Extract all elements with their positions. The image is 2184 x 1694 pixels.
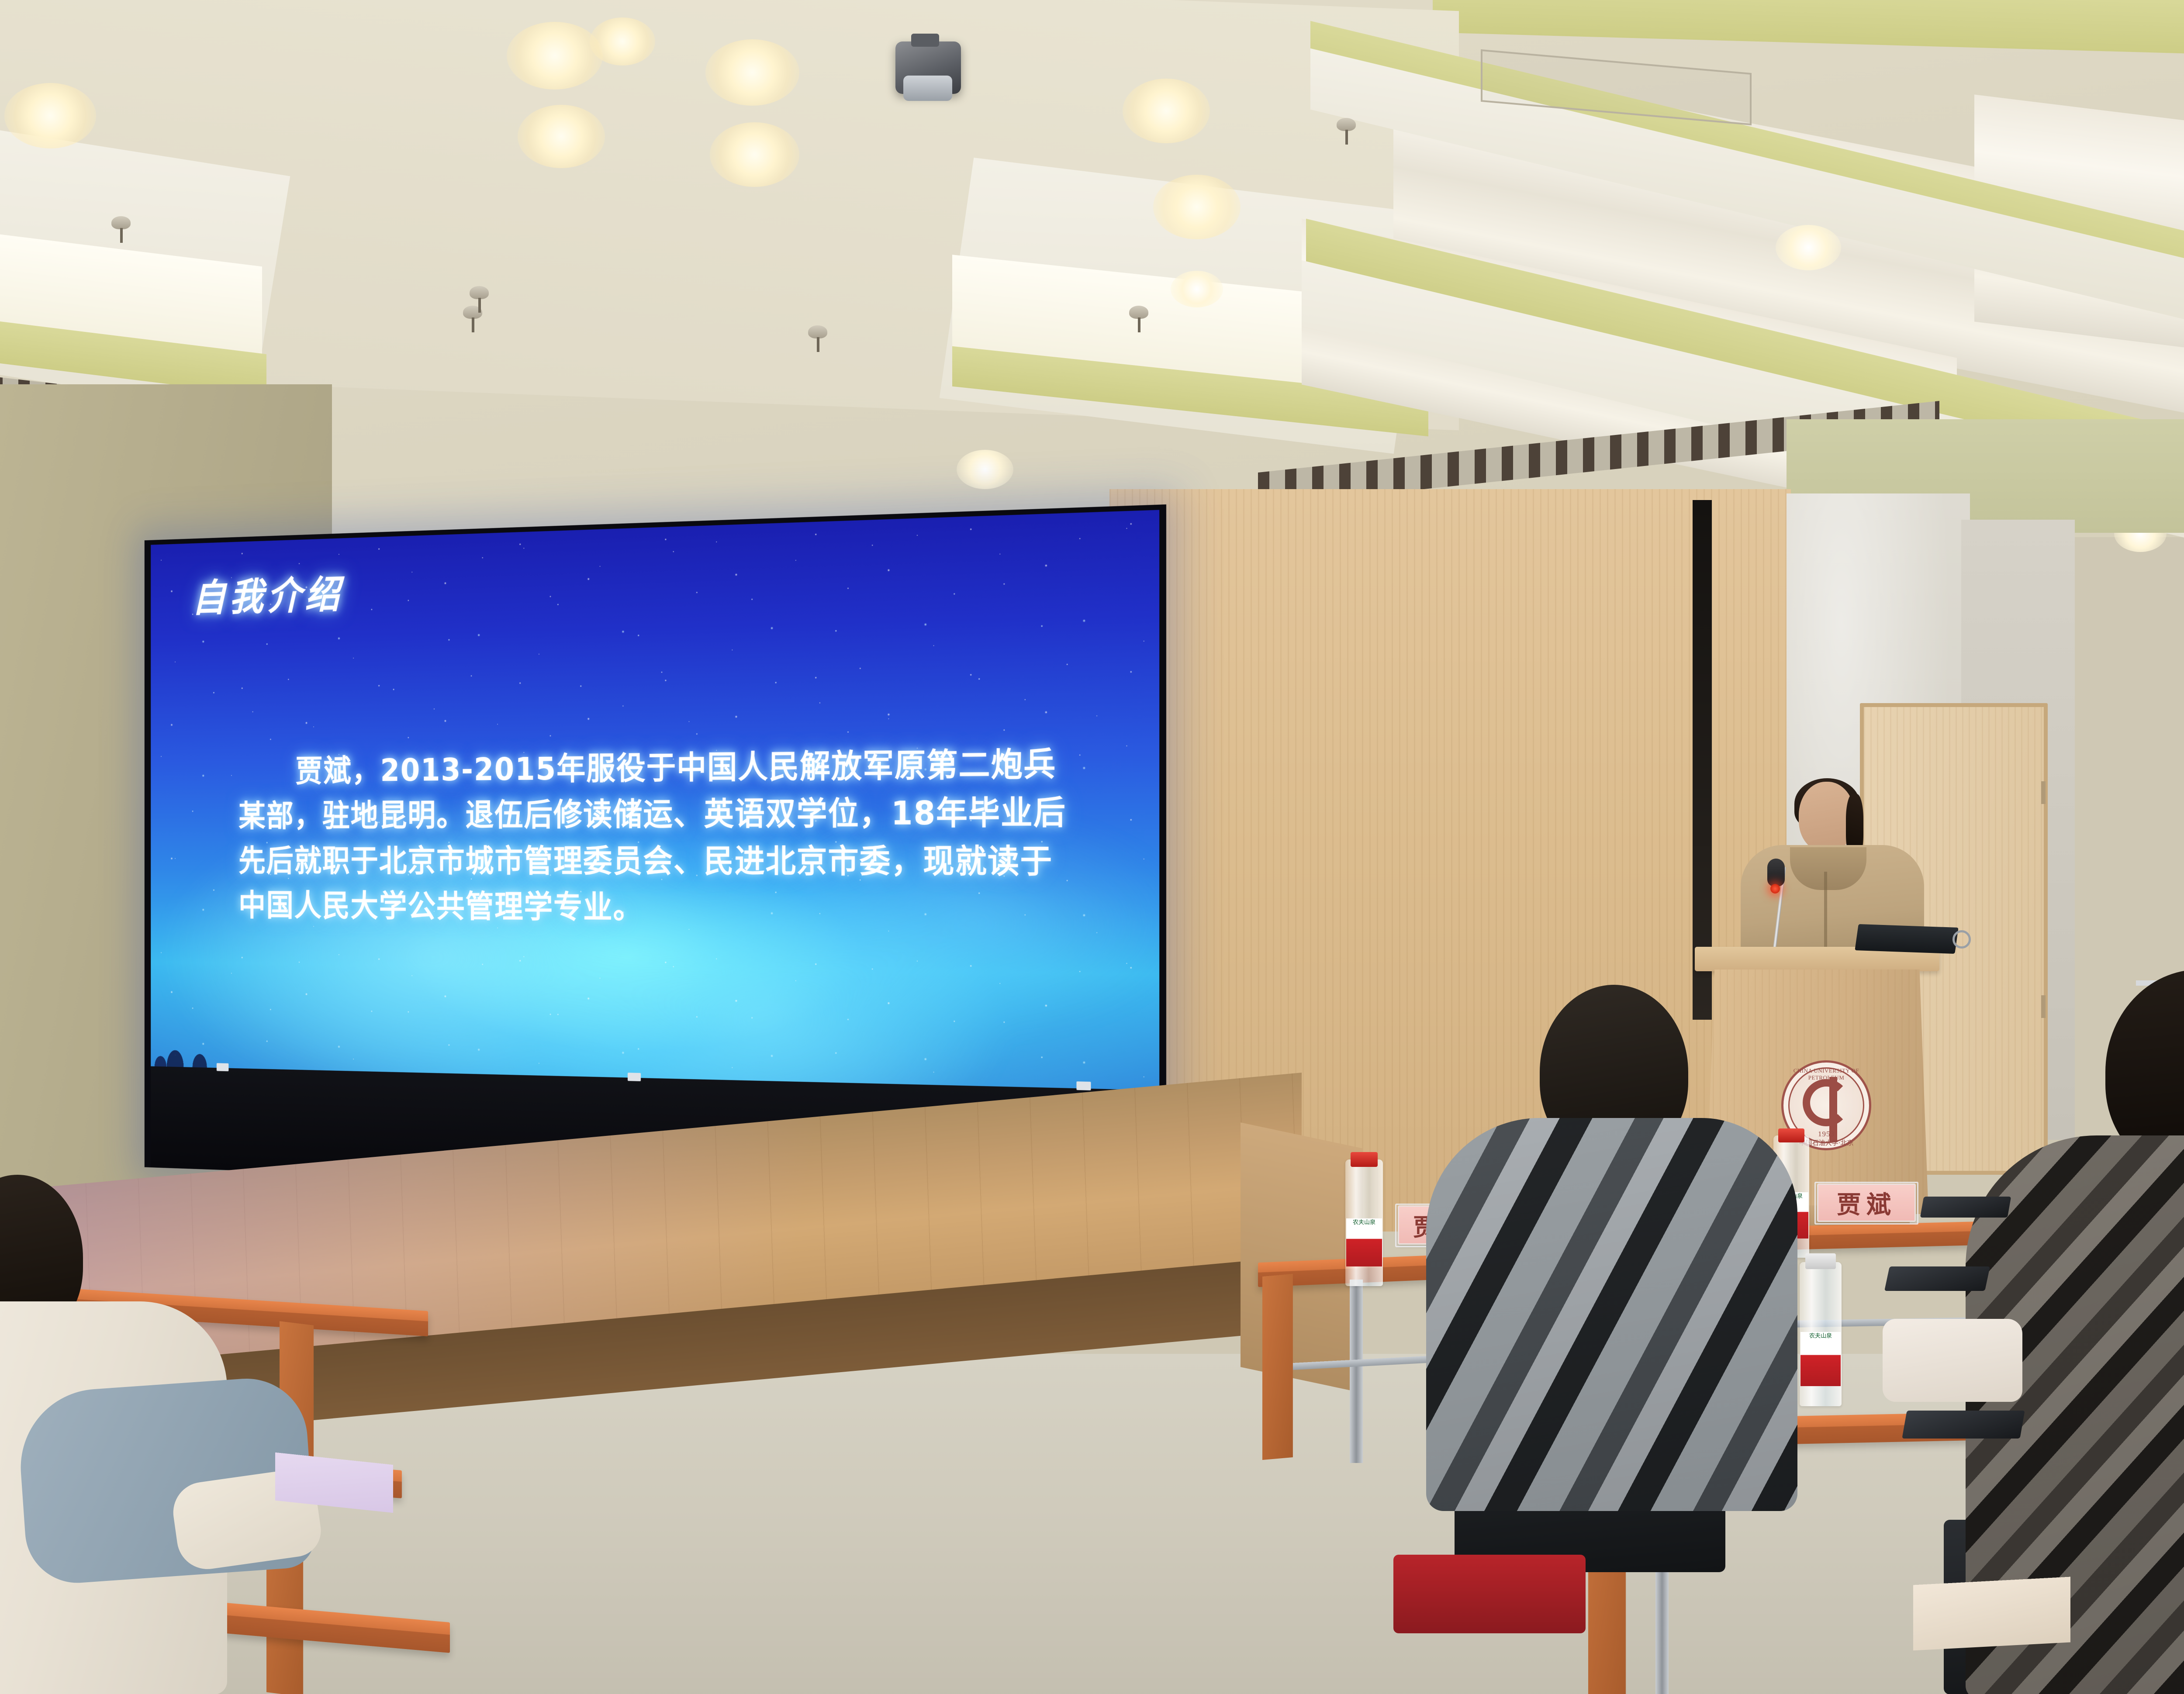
screen-mount-tab <box>217 1063 229 1071</box>
sprinkler-head <box>1129 306 1148 319</box>
sprinkler-head <box>1337 118 1356 131</box>
audience-body-center <box>1426 1118 1797 1511</box>
downlight-small <box>1171 271 1223 307</box>
slide-title: 自我介绍 <box>192 563 343 622</box>
desk-leg <box>1350 1280 1363 1463</box>
nameplate-holder <box>1814 1182 1918 1225</box>
microphone-icon[interactable] <box>1767 859 1785 887</box>
downlight <box>590 17 655 66</box>
ceiling-projector <box>895 41 961 94</box>
bottle-label: 农夫山泉 <box>1800 1332 1841 1386</box>
screen-mount-tab <box>1076 1081 1091 1090</box>
phone-on-desk[interactable] <box>1920 1197 2011 1218</box>
downlight <box>705 39 799 106</box>
led-display-wall[interactable]: 自我介绍 贾斌，2013-2015年服役于中国人民解放军原第二炮兵某部，驻地昆明… <box>145 504 1166 1203</box>
door-hinge-icon <box>2041 781 2046 804</box>
cable-grommet-icon <box>1952 930 1971 949</box>
bottle-cap <box>1805 1253 1836 1269</box>
downlight <box>518 105 605 168</box>
sprinkler-head <box>111 216 131 229</box>
door-hinge-icon <box>2041 995 2046 1018</box>
presentation-slide: 自我介绍 贾斌，2013-2015年服役于中国人民解放军原第二炮兵某部，驻地昆明… <box>151 510 1159 1090</box>
laptop[interactable] <box>1855 924 1958 954</box>
ceiling-cove-strip-top-right <box>1433 0 2184 64</box>
paper-stack[interactable] <box>1913 1577 2070 1651</box>
downlight <box>507 22 603 90</box>
downlight-small <box>957 450 1013 489</box>
sprinkler-head <box>470 286 489 299</box>
bottle-cap <box>1778 1128 1804 1142</box>
downlight <box>1153 175 1241 239</box>
emblem-mark-icon <box>1803 1079 1850 1126</box>
bottle-cap <box>1351 1152 1378 1167</box>
lecture-hall-photo: 自我介绍 贾斌，2013-2015年服役于中国人民解放军原第二炮兵某部，驻地昆明… <box>0 0 2184 1694</box>
stool-red[interactable] <box>1393 1555 1586 1633</box>
downlight <box>710 122 799 187</box>
desk-side-panel <box>1262 1274 1293 1460</box>
microphone-status-led <box>1770 884 1780 894</box>
downlight-small <box>1776 225 1841 270</box>
phone-on-desk[interactable] <box>1884 1266 1990 1291</box>
slide-body-text: 贾斌，2013-2015年服役于中国人民解放军原第二炮兵某部，驻地昆明。退伍后修… <box>238 740 1078 935</box>
screen-mount-tab <box>628 1073 641 1081</box>
stage-right-step <box>1241 1122 1363 1393</box>
downlight <box>4 83 96 148</box>
sprinkler-head <box>808 325 827 338</box>
tissue-pack[interactable] <box>1883 1319 2022 1402</box>
wall-vertical-slot <box>1693 500 1712 1020</box>
downlight <box>1123 79 1210 143</box>
bottle-label: 农夫山泉 <box>1346 1218 1382 1266</box>
phone-on-desk[interactable] <box>1902 1411 2025 1439</box>
